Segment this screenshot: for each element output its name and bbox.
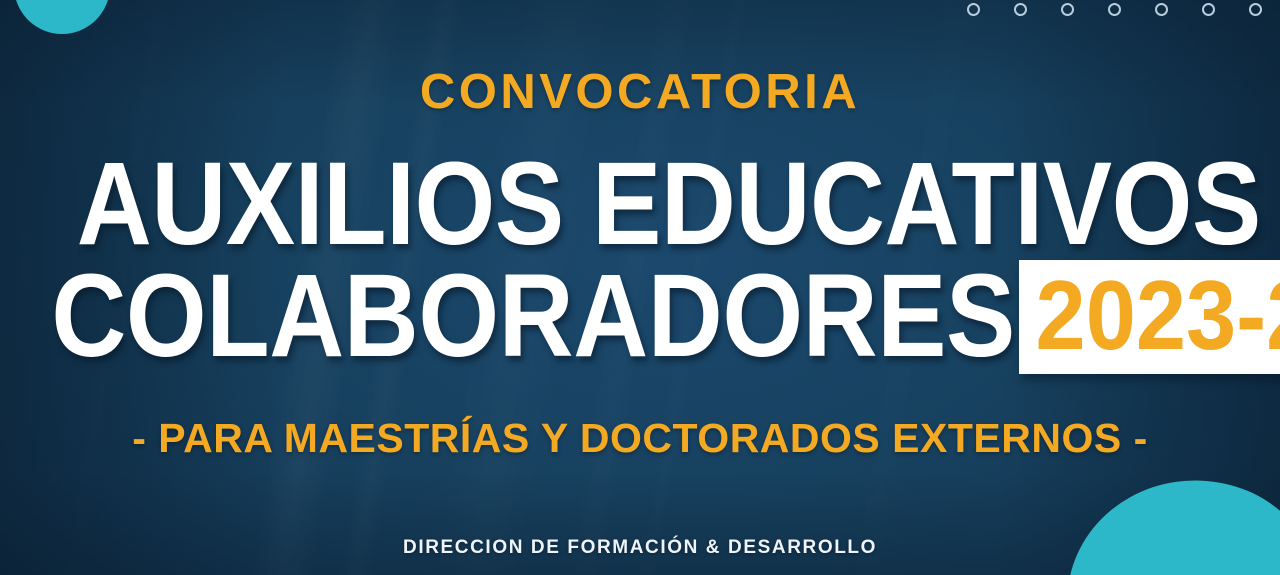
headline-line-1: AUXILIOS EDUCATIVOS	[77, 150, 1203, 260]
subtitle-text: - PARA MAESTRÍAS Y DOCTORADOS EXTERNOS -	[0, 418, 1280, 459]
kicker-text: CONVOCATORIA	[0, 68, 1280, 117]
headline-line-2: COLABORADORES 2023-2	[0, 260, 1280, 374]
footer-department-text: DIRECCION DE FORMACIÓN & DESARROLLO	[0, 538, 1280, 557]
headline-block: AUXILIOS EDUCATIVOS COLABORADORES 2023-2	[0, 150, 1280, 374]
poster-content: CONVOCATORIA AUXILIOS EDUCATIVOS COLABOR…	[0, 0, 1280, 575]
headline-line-2-word: COLABORADORES	[51, 262, 1014, 372]
poster-banner: CONVOCATORIA AUXILIOS EDUCATIVOS COLABOR…	[0, 0, 1280, 575]
year-badge: 2023-2	[1019, 260, 1280, 374]
